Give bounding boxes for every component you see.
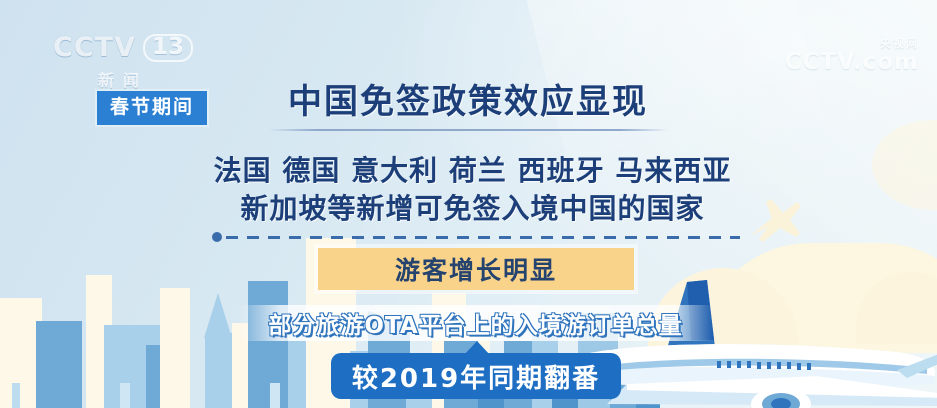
divider-dot [212,232,222,242]
cloud-shape-small [856,272,937,344]
cctv-com-watermark: 央视网 CCTV.com [785,38,919,74]
cctv-channel-number: 13 [143,34,193,62]
page-title: 中国免签政策效应显现 [258,82,678,122]
cctv-channel-subtitle: 新闻 [48,67,198,91]
cloud-shape-right-edge [872,120,937,210]
festival-period-badge: 春节期间 [97,91,207,125]
divider-dash-line [226,236,740,239]
watermark-chinese-label: 央视网 [785,38,919,50]
cctv13-logo: CCTV 13 新闻 [48,32,198,94]
country-list-line-2: 新加坡等新增可免签入境中国的国家 [205,190,740,228]
cctv-wordmark: CCTV [53,32,136,63]
broadcast-graphic: CCTV 13 新闻 央视网 CCTV.com 春节期间 中国免签政策效应显现 … [0,0,937,408]
small-airplane-icon [742,196,804,248]
watermark-domain-label: CCTV.com [785,50,919,74]
title-underline-rule [268,129,668,131]
dashed-divider [212,232,740,242]
highlight-subheading: 游客增长明显 [318,248,634,290]
country-list-line-1: 法国 德国 意大利 荷兰 西班牙 马来西亚 [205,152,740,190]
highlight-subheading-text: 游客增长明显 [395,251,557,287]
detail-band-text: 部分旅游OTA平台上的入境游订单总量 [238,305,713,341]
conclusion-pill: 较2019年同期翻番 [331,353,621,399]
country-list-block: 法国 德国 意大利 荷兰 西班牙 马来西亚 新加坡等新增可免签入境中国的国家 [205,152,740,228]
cloud-shape-large [700,243,937,353]
conclusion-pill-text: 较2019年同期翻番 [352,358,600,395]
